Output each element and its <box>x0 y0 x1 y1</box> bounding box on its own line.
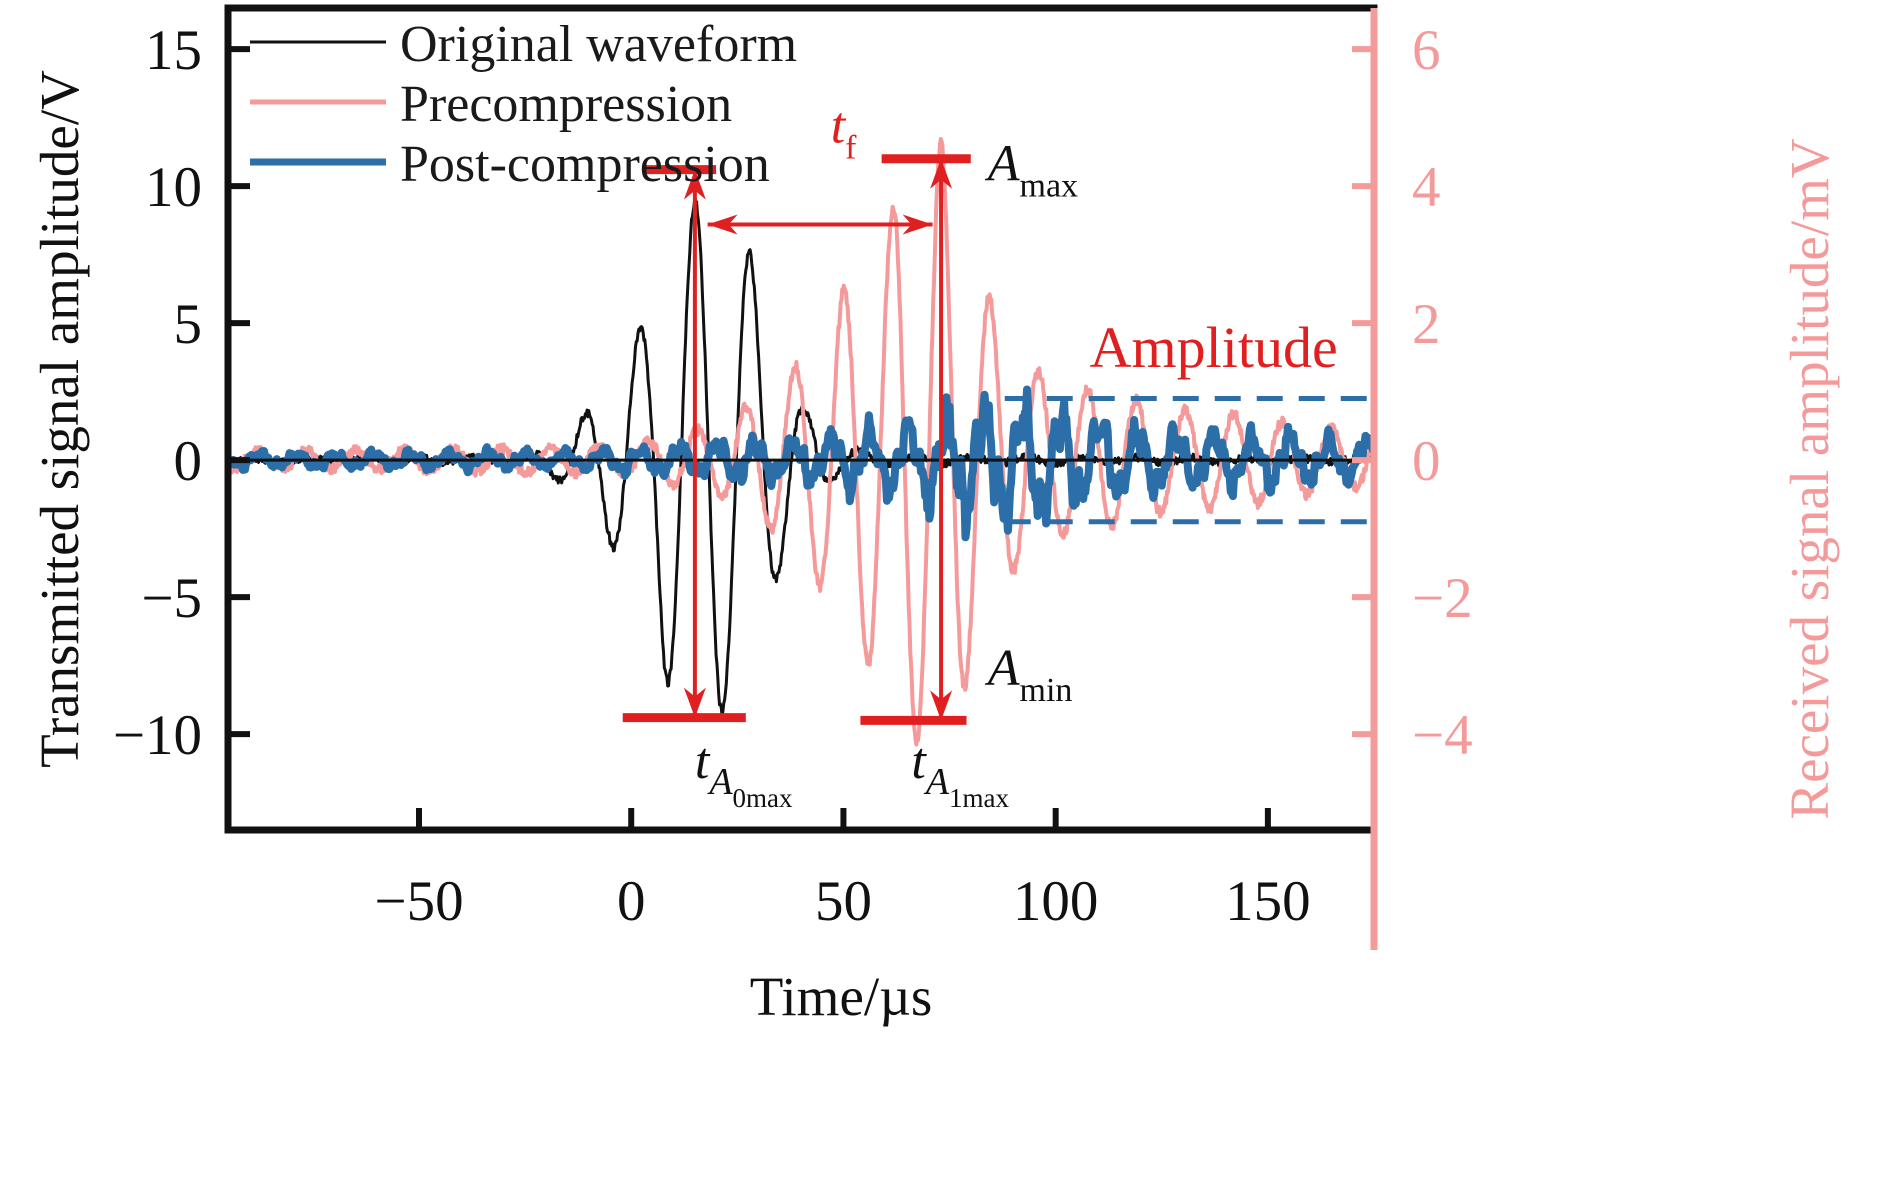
t-f-label: tf <box>831 97 857 166</box>
plot-area <box>228 139 1374 744</box>
legend: Original waveformPrecompressionPost-comp… <box>250 16 797 193</box>
ytick-label-left-4: −5 <box>141 567 202 630</box>
t-a1max-label-subscript: A <box>923 761 950 803</box>
a-max-label: Amax <box>985 136 1078 205</box>
ytick-label-left-2: 5 <box>174 293 203 356</box>
x-axis-title: Time/µs <box>750 966 933 1027</box>
legend-label-2: Post-compression <box>400 136 770 193</box>
xtick-label-1: 0 <box>617 870 646 933</box>
legend-label-1: Precompression <box>400 76 732 133</box>
ytick-label-right-1: 4 <box>1412 156 1441 219</box>
legend-label-0: Original waveform <box>400 16 797 73</box>
a-min-label-subscript: min <box>1020 672 1073 709</box>
ytick-label-right-0: 6 <box>1412 19 1441 82</box>
a-max-label-subscript: max <box>1020 168 1079 205</box>
ytick-label-left-3: 0 <box>174 430 203 493</box>
t-a0max-label-subscript: A <box>706 761 733 803</box>
ytick-label-right-3: 0 <box>1412 430 1441 493</box>
xtick-label-4: 150 <box>1225 870 1311 933</box>
chart-canvas: 151050−5−106420−2−4−50050100150Transmitt… <box>0 0 1889 1195</box>
ytick-label-right-2: 2 <box>1412 293 1441 356</box>
a-min-label: Amin <box>985 640 1073 709</box>
y-axis-title-right: Received signal amplitude/mV <box>1779 138 1840 819</box>
ytick-label-left-0: 15 <box>145 19 202 82</box>
t-a0max-label-subscript2: 0max <box>733 783 793 813</box>
y-axis-title-left: Transmitted signal amplitude/V <box>29 70 90 768</box>
a-max-label-symbol: A <box>985 136 1020 193</box>
a-min-label-symbol: A <box>985 640 1020 697</box>
t-a1max-label: tA1max <box>911 733 1009 813</box>
ytick-label-right-4: −2 <box>1412 567 1473 630</box>
series-precompression <box>228 139 1373 744</box>
amplitude-label: Amplitude <box>1090 315 1338 380</box>
t-f-label-subscript: f <box>845 129 857 166</box>
xtick-label-3: 100 <box>1013 870 1099 933</box>
ytick-label-left-5: −10 <box>113 704 202 767</box>
chart-figure: 151050−5−106420−2−4−50050100150Transmitt… <box>0 0 1889 1195</box>
xtick-label-2: 50 <box>815 870 872 933</box>
t-a1max-label-subscript2: 1max <box>949 783 1009 813</box>
t-a0max-label: tA0max <box>695 733 793 813</box>
xtick-label-0: −50 <box>374 870 463 933</box>
ytick-label-right-5: −4 <box>1412 704 1473 767</box>
ytick-label-left-1: 10 <box>145 156 202 219</box>
